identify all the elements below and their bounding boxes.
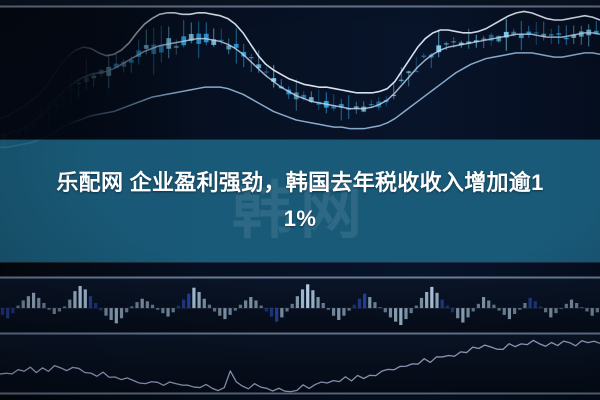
divider-trend-top [0, 332, 600, 335]
headline-line-1: 乐配网 企业盈利强劲，韩国去年税收收入增加逾1 [56, 165, 543, 201]
top-divider-line [0, 5, 600, 8]
headline-text: 乐配网 企业盈利强劲，韩国去年税收收入增加逾1 1% [0, 140, 600, 262]
divider-histogram-top [0, 276, 600, 279]
headline-line-2: 1% [56, 201, 543, 237]
screenshot-root: 韩网 乐配网 企业盈利强劲，韩国去年税收收入增加逾1 1% [0, 0, 600, 400]
trend-svg [0, 336, 600, 396]
divider-bottom [0, 392, 600, 395]
